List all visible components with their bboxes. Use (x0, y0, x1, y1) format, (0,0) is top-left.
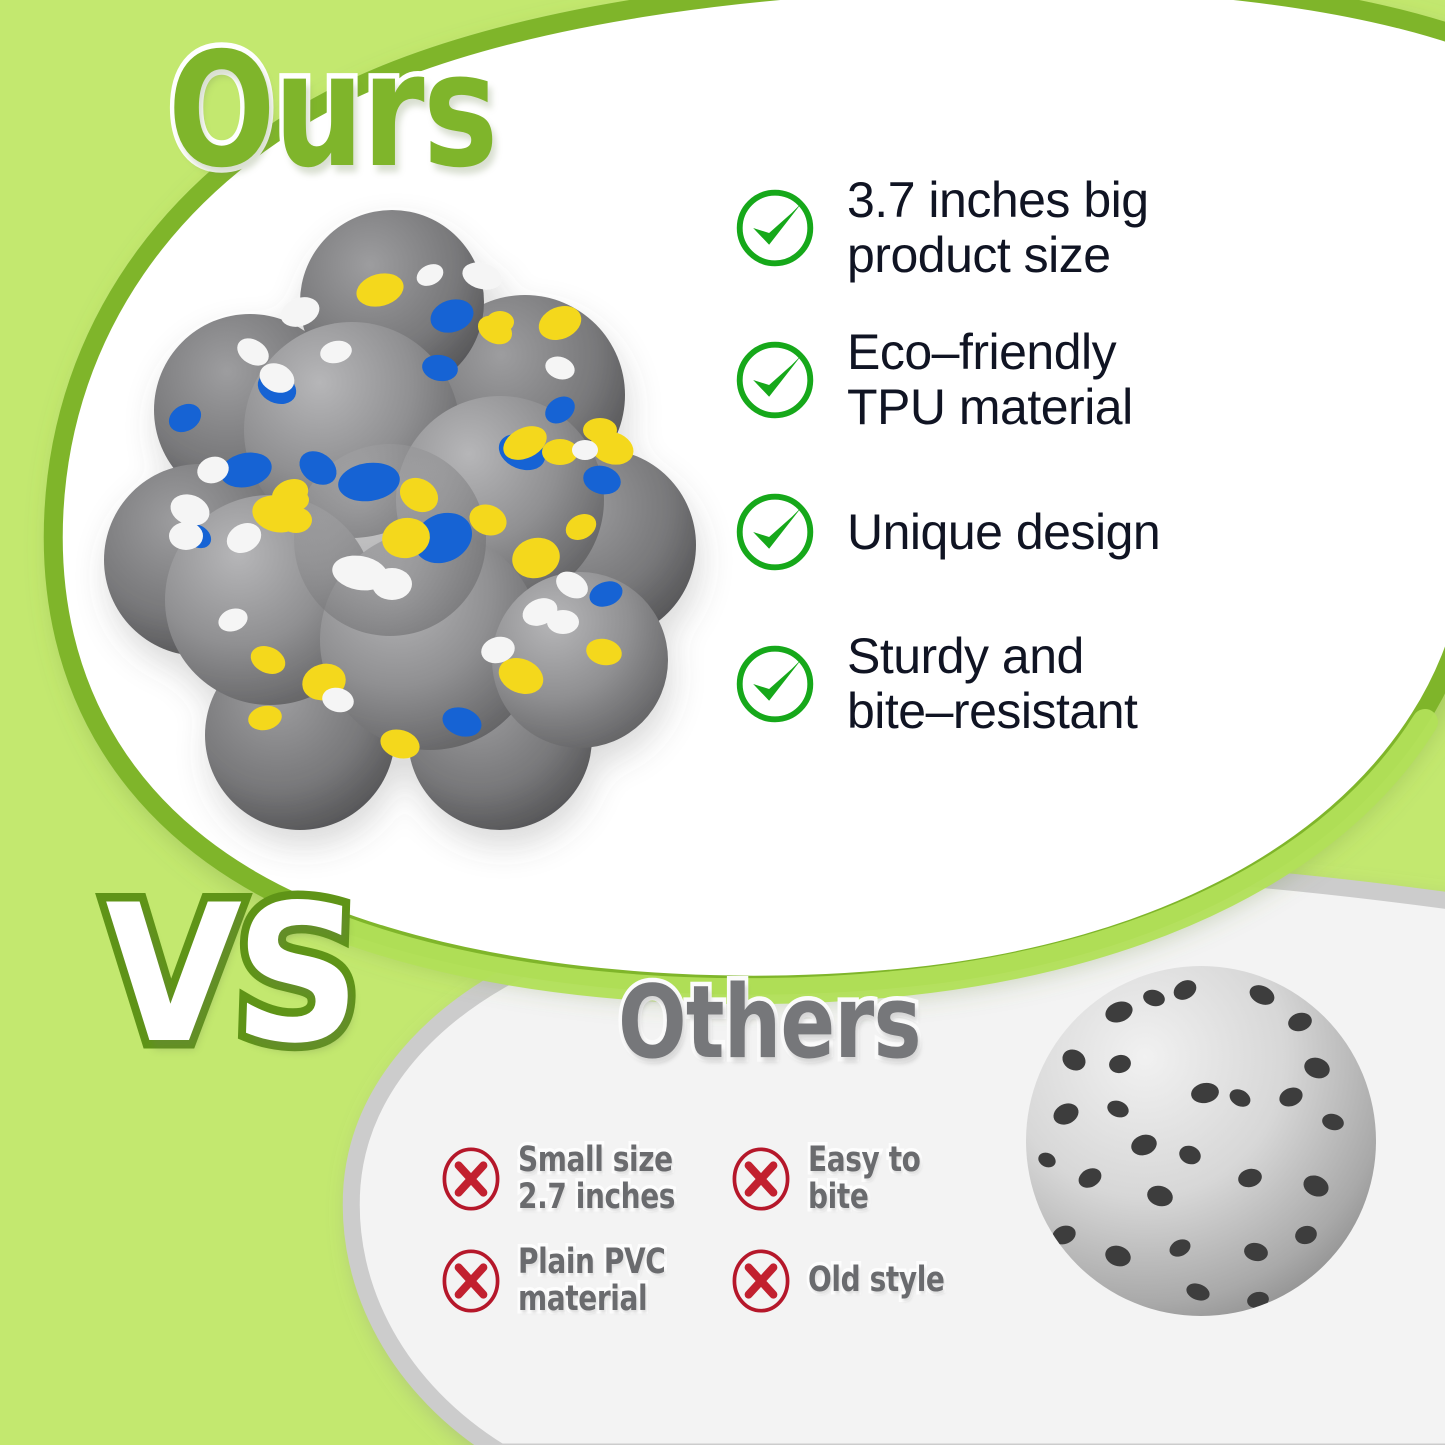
x-circle-icon (730, 1145, 792, 1213)
feature-label: Eco–friendly TPU material (847, 325, 1133, 435)
x-circle-icon (730, 1247, 792, 1315)
others-ball-body (1026, 966, 1376, 1316)
feature-label: Unique design (847, 505, 1160, 560)
x-circle-icon (440, 1247, 502, 1315)
drawback-item-style: Old style (730, 1230, 1020, 1332)
ours-title: Ours (168, 32, 497, 190)
drawback-label: Easy to bite (808, 1142, 978, 1217)
x-circle-icon (440, 1145, 502, 1213)
feature-label: 3.7 inches big product size (847, 173, 1149, 283)
vs-divider-label: VS (100, 880, 359, 1070)
feature-item-size: 3.7 inches big product size (733, 152, 1203, 304)
feature-item-durability: Sturdy and bite–resistant (733, 608, 1203, 760)
ours-feature-list: 3.7 inches big product size Eco–friendly… (733, 152, 1203, 760)
comparison-infographic: Ours 3.7 inches big product size Eco–fri… (0, 0, 1445, 1445)
feature-item-design: Unique design (733, 456, 1203, 608)
others-drawback-list: Small size 2.7 inches Easy to bite Plain… (440, 1128, 1020, 1332)
drawback-label: Plain PVC material (518, 1244, 688, 1319)
check-circle-icon (733, 338, 817, 422)
feature-label: Sturdy and bite–resistant (847, 629, 1137, 739)
check-circle-icon (733, 642, 817, 726)
drawback-label: Small size 2.7 inches (518, 1142, 688, 1217)
drawback-item-bite: Easy to bite (730, 1128, 1020, 1230)
check-circle-icon (733, 186, 817, 270)
others-title: Others (618, 972, 921, 1073)
drawback-item-size: Small size 2.7 inches (440, 1128, 730, 1230)
feature-item-material: Eco–friendly TPU material (733, 304, 1203, 456)
check-circle-icon (733, 490, 817, 574)
drawback-label: Old style (808, 1262, 978, 1299)
drawback-item-material: Plain PVC material (440, 1230, 730, 1332)
